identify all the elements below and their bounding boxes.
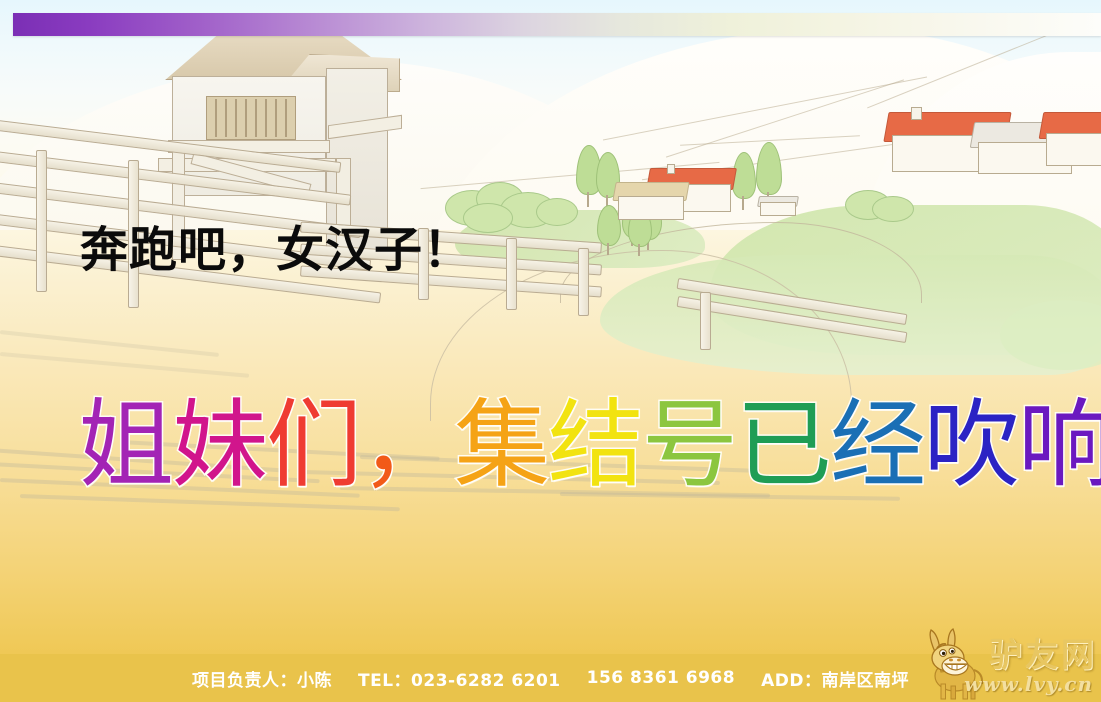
watermark-url: www.lvy.cn: [964, 672, 1093, 696]
footer-segment-1: TEL：023-6282 6201: [358, 666, 561, 691]
tree-trunk: [607, 243, 609, 255]
house-chimney: [667, 164, 675, 174]
slogan-char-1: 妹: [172, 389, 266, 501]
bush: [872, 196, 914, 222]
shed-body: [760, 202, 796, 216]
decorative-gradient-bar: [13, 13, 1101, 36]
tree-trunk: [587, 192, 589, 207]
tree-crown: [756, 142, 782, 195]
slogan-char-5: 结: [548, 389, 642, 501]
footer-segment-0: 项目负责人：小陈: [192, 666, 332, 691]
tree-trunk: [638, 244, 640, 256]
slogan-char-4: 集: [454, 389, 548, 501]
watermark-brand: 驴友网: [989, 628, 1097, 676]
poster-canvas: 奔跑吧，女汉子！ 姐妹们，集结号已经吹响！ 项目负责人：小陈TEL：023-62…: [0, 0, 1101, 702]
house-chimney: [911, 107, 922, 120]
fence-post: [700, 292, 711, 350]
footer-segment-3: ADD：南岸区南坪: [761, 666, 909, 691]
slogan-char-0: 姐: [78, 389, 172, 501]
slogan-char-10: 响: [1018, 389, 1101, 501]
fence-post: [578, 248, 589, 316]
slogan-char-3: ，: [360, 389, 454, 501]
watermark: 驴友网 www.lvy.cn: [915, 622, 1101, 702]
slogan-char-7: 已: [736, 389, 830, 501]
hut-window-lattice: [206, 96, 296, 140]
fence-post: [36, 150, 47, 292]
slogan-char-6: 号: [642, 389, 736, 501]
house: [618, 182, 682, 220]
shed: [760, 196, 794, 216]
slogan-char-9: 吹: [924, 389, 1018, 501]
slogan-char-2: 们: [266, 389, 360, 501]
house-body: [1046, 133, 1101, 166]
slogan-char-8: 经: [830, 389, 924, 501]
house-body: [618, 196, 684, 220]
tree: [732, 152, 754, 210]
house: [1046, 112, 1101, 166]
bush: [536, 198, 578, 226]
footer-segment-2: 156 8361 6968: [587, 668, 735, 688]
footer-bar: 项目负责人：小陈TEL：023-6282 6201156 8361 6968AD…: [0, 654, 1101, 702]
fence-post: [506, 238, 517, 310]
page-title: 奔跑吧，女汉子！: [80, 226, 472, 274]
slogan-text: 姐妹们，集结号已经吹响！: [78, 394, 1101, 498]
tree-trunk: [742, 196, 744, 210]
